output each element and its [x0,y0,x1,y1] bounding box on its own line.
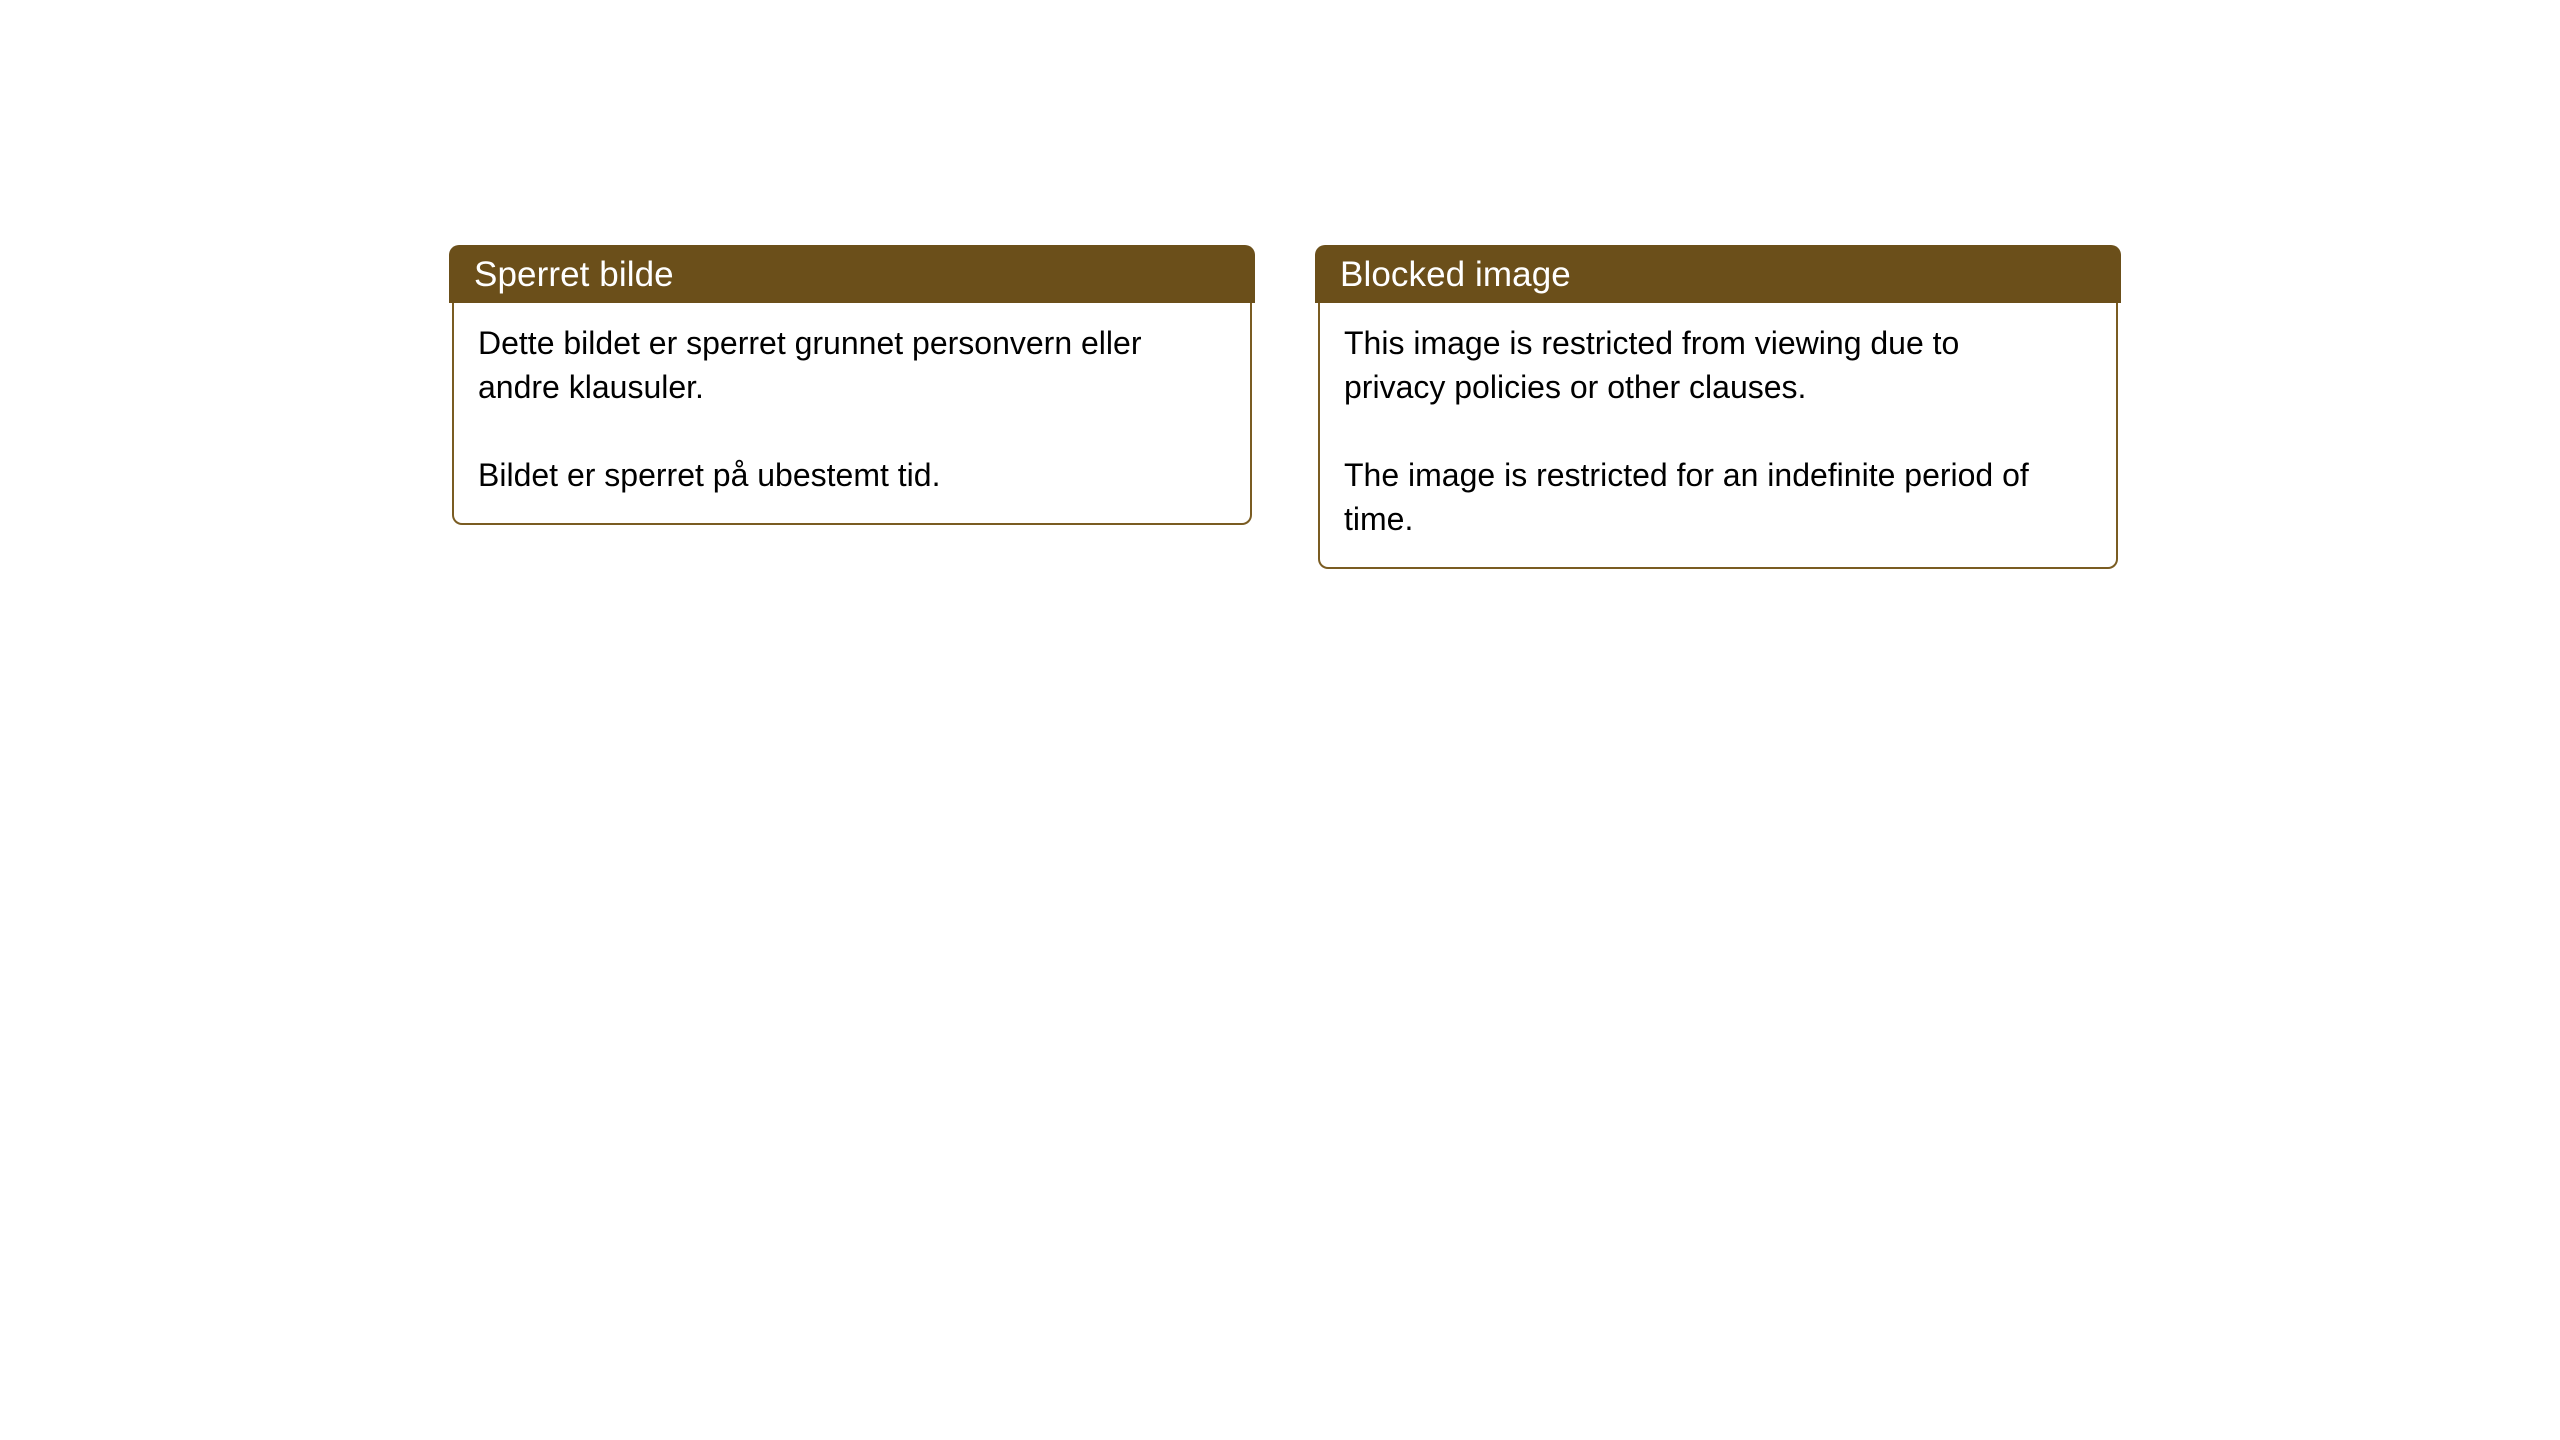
card-paragraph-secondary-english: The image is restricted for an indefinit… [1344,453,2056,541]
card-header-norwegian: Sperret bilde [449,245,1255,303]
blocked-image-card-norwegian: Sperret bilde Dette bildet er sperret gr… [449,245,1255,525]
blocked-image-notice-group: Sperret bilde Dette bildet er sperret gr… [449,245,2121,569]
card-body-english: This image is restricted from viewing du… [1318,303,2118,569]
card-body-norwegian: Dette bildet er sperret grunnet personve… [452,303,1252,525]
paragraph-spacer [478,409,1226,453]
card-header-english: Blocked image [1315,245,2121,303]
card-title-norwegian: Sperret bilde [474,257,674,292]
card-paragraph-primary-norwegian: Dette bildet er sperret grunnet personve… [478,321,1190,409]
card-title-english: Blocked image [1340,257,1571,292]
card-paragraph-secondary-norwegian: Bildet er sperret på ubestemt tid. [478,453,1190,497]
blocked-image-card-english: Blocked image This image is restricted f… [1315,245,2121,569]
paragraph-spacer [1344,409,2092,453]
card-paragraph-primary-english: This image is restricted from viewing du… [1344,321,2056,409]
